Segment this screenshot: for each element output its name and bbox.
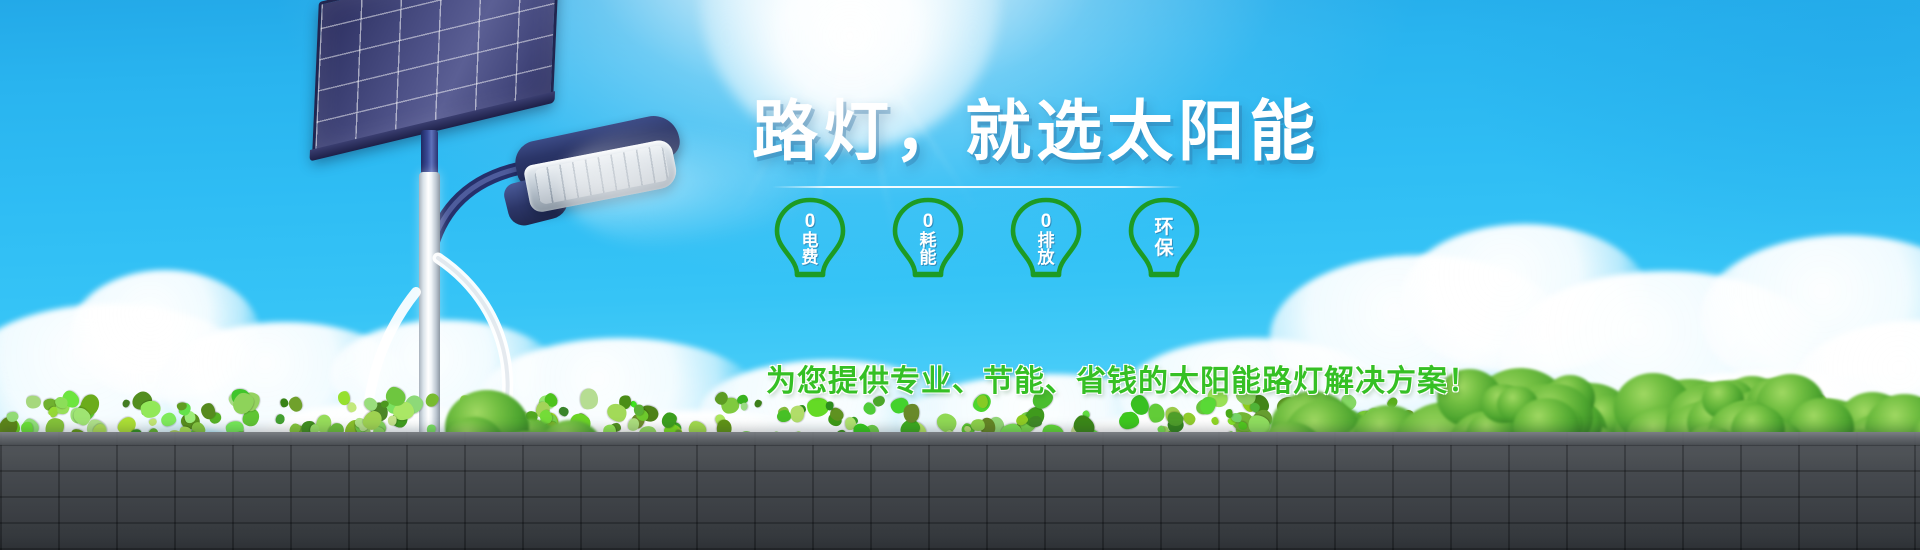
feature-badge-4[interactable]: 环保 [1124, 196, 1204, 278]
badge-label: 电费 [802, 232, 819, 267]
badge-number: 0 [923, 212, 934, 231]
badge-content: 环保 [1124, 196, 1204, 278]
badge-number: 0 [1041, 212, 1052, 231]
feature-badge-1[interactable]: 0 电费 [770, 196, 850, 278]
page-title: 路灯，就选太阳能 [752, 98, 1320, 164]
badge-number: 0 [805, 212, 816, 231]
headline-divider [772, 186, 1182, 188]
badge-label: 耗能 [920, 232, 937, 267]
badge-content: 0 排放 [1006, 196, 1086, 278]
badge-content: 0 电费 [770, 196, 850, 278]
badge-content: 0 耗能 [888, 196, 968, 278]
solar-street-light-hero-banner: 路灯，就选太阳能 0 电费 0 耗能 0 排放 环保 为您 [0, 0, 1920, 550]
feature-badge-2[interactable]: 0 耗能 [888, 196, 968, 278]
badge-label: 环保 [1154, 218, 1173, 259]
feature-badge-3[interactable]: 0 排放 [1006, 196, 1086, 278]
feature-badge-list: 0 电费 0 耗能 0 排放 环保 [770, 196, 1204, 278]
tiled-wall [0, 432, 1920, 550]
badge-label: 排放 [1038, 232, 1055, 267]
tagline: 为您提供专业、节能、省钱的太阳能路灯解决方案！ [766, 356, 1479, 400]
